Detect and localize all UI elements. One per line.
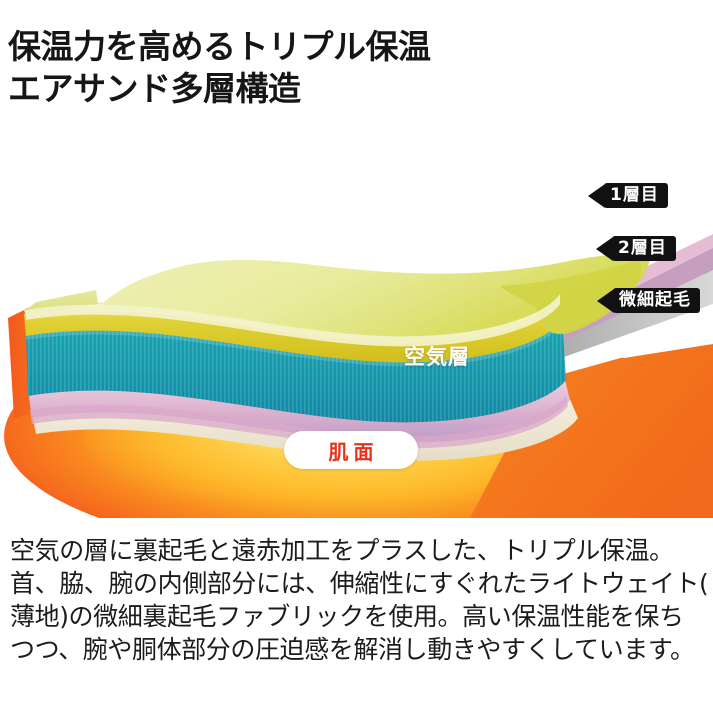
air-layer-label: 空気層	[404, 341, 470, 371]
description-line-3: 薄地)の微細裏起毛ファブリックを使用。高い保温性能を保ち	[10, 600, 710, 633]
description-line-2: 首、脇、腕の内側部分には、伸縮性にすぐれたライトウェイト(	[10, 567, 710, 600]
description-block: 空気の層に裏起毛と遠赤加工をプラスした、トリプル保温。 首、脇、腕の内側部分には…	[10, 534, 710, 666]
description-line-1: 空気の層に裏起毛と遠赤加工をプラスした、トリプル保温。	[10, 534, 710, 567]
title-line-1: 保温力を高めるトリプル保温	[8, 26, 698, 68]
title-line-2: エアサンド多層構造	[8, 68, 698, 110]
skin-surface-badge: 肌面	[284, 431, 418, 469]
infographic-page: 保温力を高めるトリプル保温 エアサンド多層構造	[0, 0, 713, 713]
page-title: 保温力を高めるトリプル保温 エアサンド多層構造	[8, 26, 698, 110]
skin-surface-label: 肌面	[324, 436, 379, 465]
description-line-4: つつ、腕や胴体部分の圧迫感を解消し動きやすくしています。	[10, 633, 710, 666]
